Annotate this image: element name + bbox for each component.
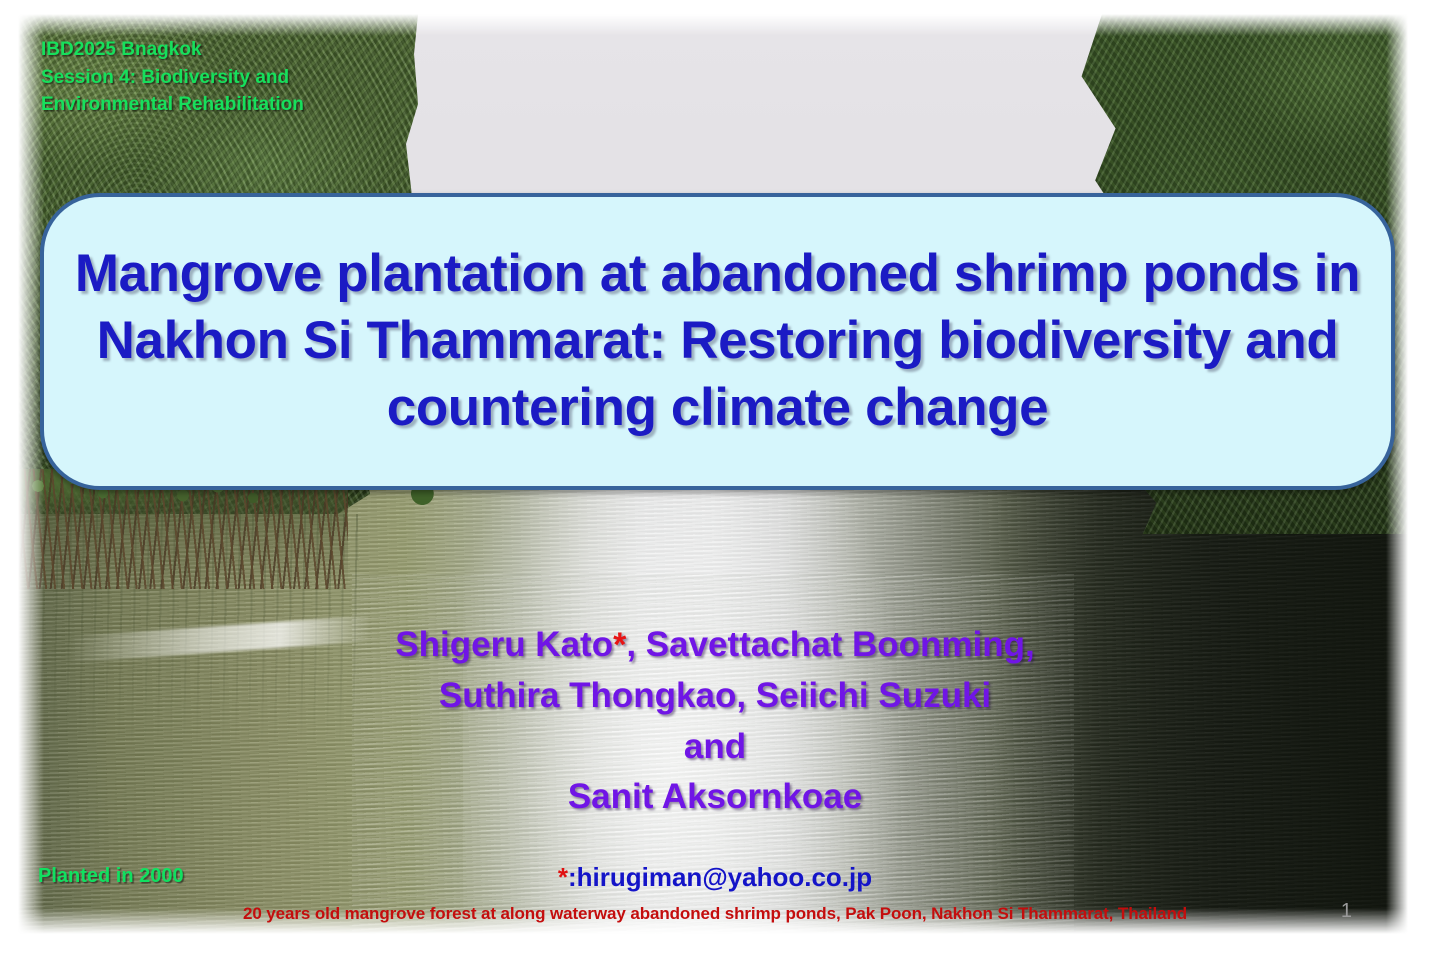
author-line-2: Suthira Thongkao, Seiichi Suzuki — [0, 671, 1430, 722]
corresponding-author-email: *:hirugiman@yahoo.co.jp — [0, 862, 1430, 893]
author-line-1-rest: , Savettachat Boonming, — [626, 625, 1034, 664]
author-line-4: Sanit Aksornkoae — [0, 772, 1430, 823]
conference-session-header: IBD2025 Bnagkok Session 4: Biodiversity … — [41, 36, 304, 119]
email-address[interactable]: :hirugiman@yahoo.co.jp — [568, 862, 872, 892]
author-list: Shigeru Kato*, Savettachat Boonming, Sut… — [0, 620, 1430, 823]
author-line-3-conjunction: and — [0, 722, 1430, 773]
email-asterisk: * — [558, 862, 568, 892]
corresponding-author-asterisk: * — [613, 626, 626, 664]
presentation-title: Mangrove plantation at abandoned shrimp … — [44, 241, 1391, 441]
slide-number: 1 — [1341, 900, 1352, 923]
presentation-slide: IBD2025 Bnagkok Session 4: Biodiversity … — [0, 0, 1430, 953]
author-line-1: Shigeru Kato*, Savettachat Boonming, — [0, 620, 1430, 671]
author-name-primary: Shigeru Kato — [395, 625, 613, 664]
photo-caption: 20 years old mangrove forest at along wa… — [0, 904, 1430, 924]
title-callout-box: Mangrove plantation at abandoned shrimp … — [40, 193, 1395, 490]
